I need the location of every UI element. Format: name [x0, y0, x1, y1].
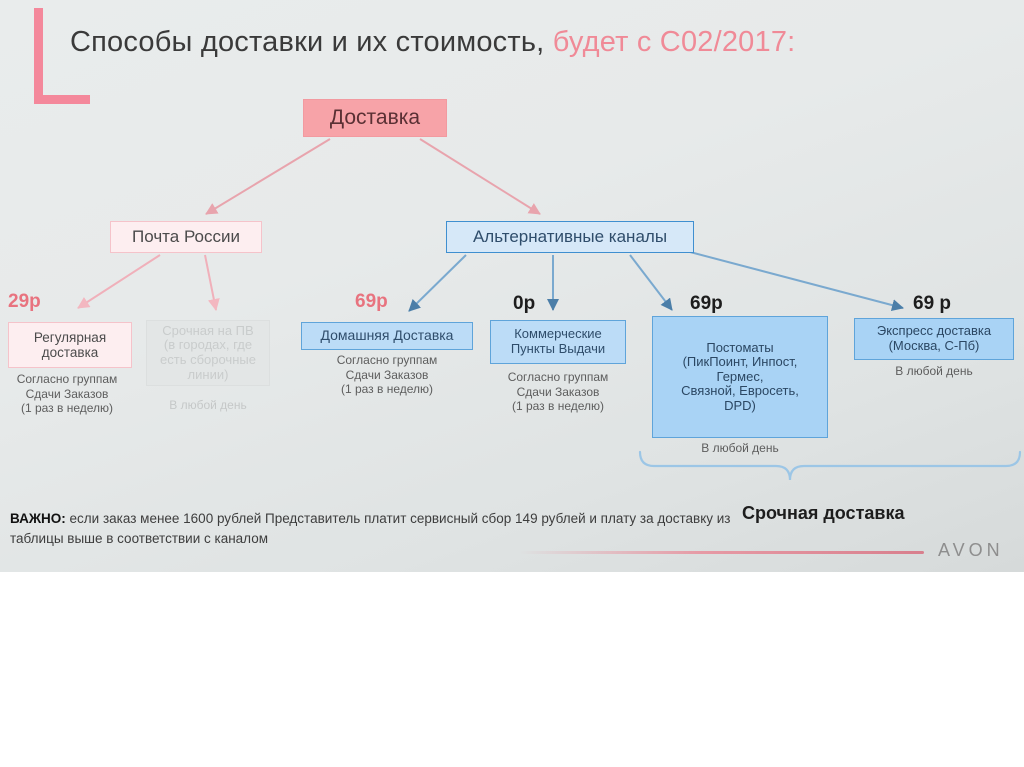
price-postamats: 69р [690, 293, 723, 315]
node-post-rossii[interactable]: Почта России [110, 221, 262, 253]
node-urgent-pickup-disabled: Срочная на ПВ(в городах, гдеесть сборочн… [146, 320, 270, 386]
title-main-text: Способы доставки и их стоимость, [70, 26, 544, 58]
important-note-prefix: ВАЖНО: [10, 511, 66, 526]
bracket-horizontal-bar [34, 95, 90, 104]
node-alt-channels[interactable]: Альтернативные каналы [446, 221, 694, 253]
brace-label-urgent-delivery: Срочная доставка [742, 503, 904, 524]
caption-urgent-pickup: В любой день [146, 398, 270, 413]
bracket-vertical-bar [34, 8, 43, 104]
page-whitespace [0, 572, 1024, 767]
node-commercial-points[interactable]: КоммерческиеПункты Выдачи [490, 320, 626, 364]
node-regular-delivery-label: Регулярная доставка [9, 330, 131, 360]
node-regular-delivery[interactable]: Регулярная доставка [8, 322, 132, 368]
avon-logo: AVON [938, 540, 1004, 561]
node-home-delivery-label: Домашняя Доставка [321, 328, 454, 344]
node-root-label: Доставка [330, 106, 420, 130]
caption-regular-delivery: Согласно группамСдачи Заказов(1 раз в не… [0, 372, 134, 416]
page-title: Способы доставки и их стоимость, будет с… [70, 26, 970, 59]
price-regular: 29р [8, 291, 41, 313]
node-alt-channels-label: Альтернативные каналы [473, 227, 667, 246]
caption-commercial-points: Согласно группамСдачи Заказов(1 раз в не… [488, 370, 628, 414]
slide-canvas: Способы доставки и их стоимость, будет с… [0, 0, 1024, 572]
node-root-delivery[interactable]: Доставка [303, 99, 447, 137]
node-express-delivery[interactable]: Экспресс доставка(Москва, С-Пб) [854, 318, 1014, 360]
node-postamats-label: Постоматы(ПикПоинт, Инпост,Гермес,Связно… [681, 341, 799, 414]
important-note-text: если заказ менее 1600 рублей Представите… [10, 511, 731, 546]
node-commercial-points-label: КоммерческиеПункты Выдачи [511, 327, 605, 356]
caption-home-delivery: Согласно группамСдачи Заказов(1 раз в не… [301, 353, 473, 397]
footer-accent-line [520, 551, 924, 554]
price-commercial: 0р [513, 293, 535, 315]
node-express-delivery-label: Экспресс доставка(Москва, С-Пб) [877, 324, 991, 353]
node-post-rossii-label: Почта России [132, 227, 240, 246]
title-accent-text: будет с С02/2017: [553, 26, 796, 58]
caption-postamats: В любой день [652, 441, 828, 456]
important-note: ВАЖНО: если заказ менее 1600 рублей Пред… [10, 509, 750, 550]
caption-express-delivery: В любой день [854, 364, 1014, 379]
price-home: 69р [355, 291, 388, 313]
node-home-delivery[interactable]: Домашняя Доставка [301, 322, 473, 350]
node-urgent-pickup-label: Срочная на ПВ(в городах, гдеесть сборочн… [160, 324, 256, 382]
node-postamats[interactable]: Постоматы(ПикПоинт, Инпост,Гермес,Связно… [652, 316, 828, 438]
connector-arrows [0, 0, 1024, 572]
price-express: 69 р [913, 293, 951, 315]
